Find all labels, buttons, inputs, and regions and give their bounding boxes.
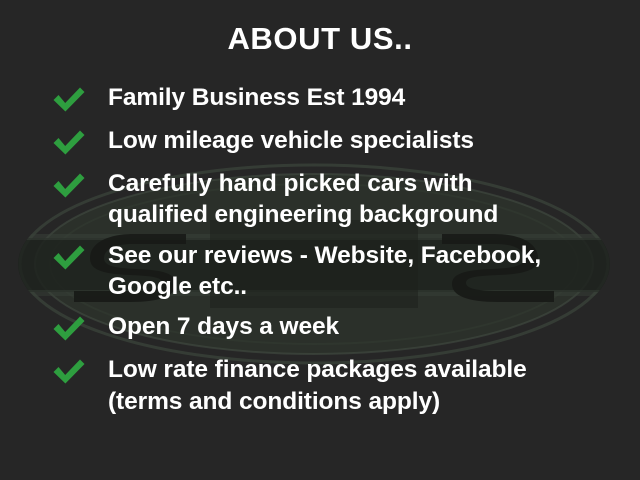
list-item-text: Low rate finance packages available (ter… [108,354,632,417]
green-check-icon [52,358,86,388]
list-item: Low rate finance packages available (ter… [52,354,632,417]
green-check-icon [52,244,86,274]
about-us-bullet-list: Family Business Est 1994 Low mileage veh… [52,82,632,426]
list-item: Carefully hand picked cars with qualifie… [52,168,632,231]
list-item-text: Family Business Est 1994 [108,82,632,113]
green-check-icon [52,172,86,202]
list-item: See our reviews - Website, Facebook, Goo… [52,240,632,303]
list-item: Open 7 days a week [52,311,632,345]
about-us-slide: ABOUT US.. Family Business Est 1994 Low … [0,0,640,480]
list-item-text: See our reviews - Website, Facebook, Goo… [108,240,632,303]
page-title: ABOUT US.. [0,22,640,56]
list-item: Low mileage vehicle specialists [52,125,632,159]
green-check-icon [52,315,86,345]
list-item-text: Low mileage vehicle specialists [108,125,632,156]
list-item-text: Open 7 days a week [108,311,632,342]
list-item-text: Carefully hand picked cars with qualifie… [108,168,632,231]
green-check-icon [52,86,86,116]
list-item: Family Business Est 1994 [52,82,632,116]
green-check-icon [52,129,86,159]
